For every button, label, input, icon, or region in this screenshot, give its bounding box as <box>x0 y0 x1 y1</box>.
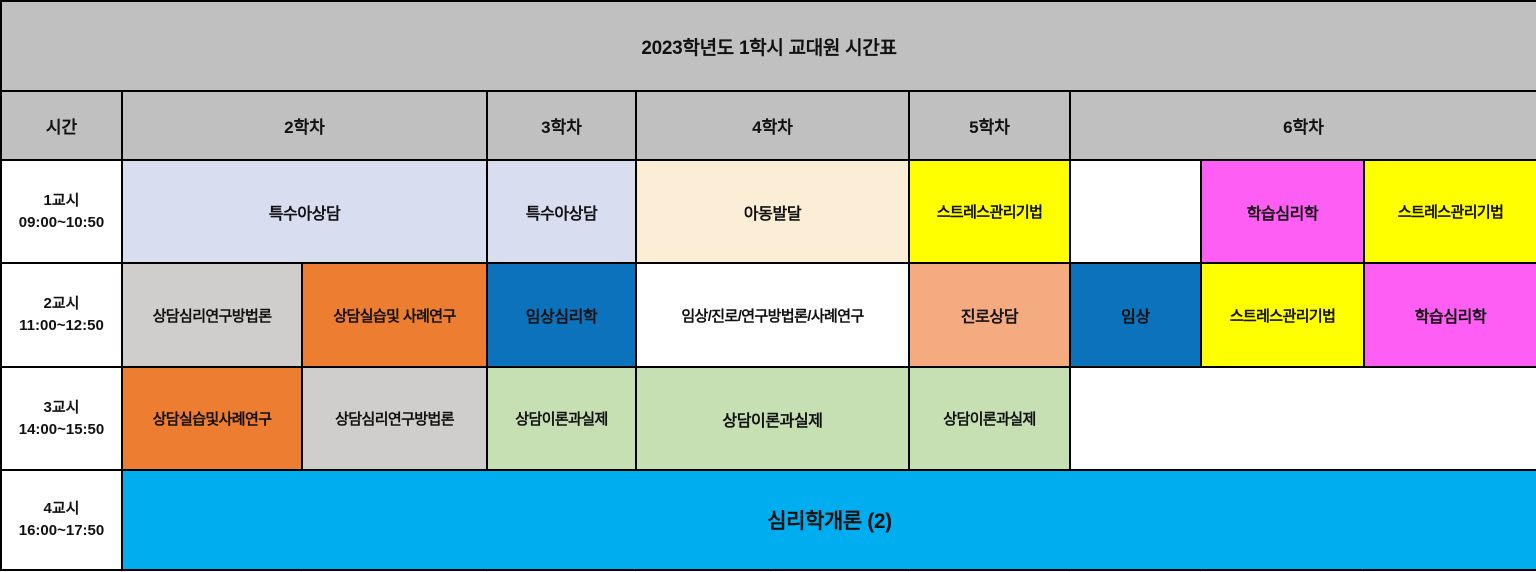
class-cell-r4-all[interactable]: 심리학개론 (2) <box>122 470 1536 570</box>
class-cell-r1-c3[interactable]: 특수아상담 <box>487 160 636 263</box>
class-cell-r2-c3[interactable]: 임상심리학 <box>487 263 636 367</box>
class-cell-r2-c2b[interactable]: 상담실습및 사례연구 <box>302 263 487 367</box>
period-time-4: 16:00~17:50 <box>4 520 119 542</box>
class-cell-r3-c6[interactable] <box>1070 367 1536 470</box>
period-time-3: 14:00~15:50 <box>4 419 119 441</box>
title-row: 2023학년도 1학시 교대원 시간표 <box>1 1 1536 91</box>
table-row: 1교시 09:00~10:50 특수아상담 특수아상담 아동발달 스트레스관리기… <box>1 160 1536 263</box>
column-header-time: 시간 <box>1 91 122 160</box>
column-header-6th-term: 6학차 <box>1070 91 1536 160</box>
class-cell-r3-c2a[interactable]: 상담실습및사례연구 <box>122 367 302 470</box>
header-row: 시간 2학차 3학차 4학차 5학차 6학차 <box>1 91 1536 160</box>
class-cell-r3-c4[interactable]: 상담이론과실제 <box>636 367 909 470</box>
table-row: 2교시 11:00~12:50 상담심리연구방법론 상담실습및 사례연구 임상심… <box>1 263 1536 367</box>
period-name-4: 4교시 <box>4 498 119 520</box>
class-cell-r2-c4[interactable]: 임상/진로/연구방법론/사례연구 <box>636 263 909 367</box>
spreadsheet-canvas: 2023학년도 1학시 교대원 시간표 시간 2학차 3학차 4학차 5학차 6… <box>0 0 1536 572</box>
column-header-3rd-term: 3학차 <box>487 91 636 160</box>
class-cell-r2-c6a[interactable]: 임상 <box>1070 263 1201 367</box>
period-label-1: 1교시 09:00~10:50 <box>1 160 122 263</box>
period-time-2: 11:00~12:50 <box>4 315 119 337</box>
class-cell-r2-c2a[interactable]: 상담심리연구방법론 <box>122 263 302 367</box>
class-cell-r1-c2[interactable]: 특수아상담 <box>122 160 487 263</box>
table-row: 3교시 14:00~15:50 상담실습및사례연구 상담심리연구방법론 상담이론… <box>1 367 1536 470</box>
class-cell-r1-c6c[interactable]: 스트레스관리기법 <box>1364 160 1536 263</box>
class-cell-r3-c3[interactable]: 상담이론과실제 <box>487 367 636 470</box>
table-row: 4교시 16:00~17:50 심리학개론 (2) <box>1 470 1536 570</box>
period-label-4: 4교시 16:00~17:50 <box>1 470 122 570</box>
period-label-3: 3교시 14:00~15:50 <box>1 367 122 470</box>
page-title: 2023학년도 1학시 교대원 시간표 <box>1 1 1536 91</box>
column-header-5th-term: 5학차 <box>909 91 1070 160</box>
period-name-1: 1교시 <box>4 190 119 212</box>
column-header-4th-term: 4학차 <box>636 91 909 160</box>
class-cell-r1-c4[interactable]: 아동발달 <box>636 160 909 263</box>
class-cell-r1-c6b[interactable]: 학습심리학 <box>1201 160 1364 263</box>
period-label-2: 2교시 11:00~12:50 <box>1 263 122 367</box>
class-cell-r1-c5[interactable]: 스트레스관리기법 <box>909 160 1070 263</box>
class-cell-r2-c6c[interactable]: 학습심리학 <box>1364 263 1536 367</box>
period-time-1: 09:00~10:50 <box>4 212 119 234</box>
class-cell-r3-c2b[interactable]: 상담심리연구방법론 <box>302 367 487 470</box>
period-name-3: 3교시 <box>4 397 119 419</box>
class-cell-r2-c6b[interactable]: 스트레스관리기법 <box>1201 263 1364 367</box>
period-name-2: 2교시 <box>4 293 119 315</box>
class-cell-r3-c5[interactable]: 상담이론과실제 <box>909 367 1070 470</box>
timetable: 2023학년도 1학시 교대원 시간표 시간 2학차 3학차 4학차 5학차 6… <box>0 0 1536 571</box>
class-cell-r1-c6a[interactable] <box>1070 160 1201 263</box>
class-cell-r2-c5[interactable]: 진로상담 <box>909 263 1070 367</box>
column-header-2nd-term: 2학차 <box>122 91 487 160</box>
